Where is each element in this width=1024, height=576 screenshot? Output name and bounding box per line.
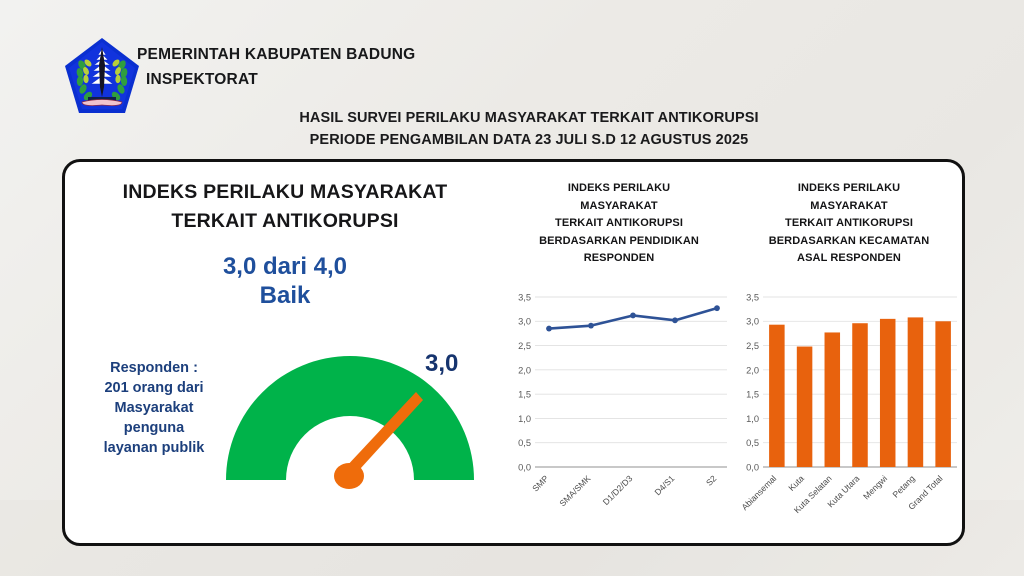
page-title: HASIL SURVEI PERILAKU MASYARAKAT TERKAIT… (0, 107, 1024, 151)
gauge-value-label: 3,0 (425, 350, 458, 378)
bar-chart-bar (880, 319, 896, 467)
bar-chart-xtick: Abiansemal (739, 473, 778, 512)
respondent-line-4: penguna (79, 418, 229, 438)
left-panel-title: INDEKS PERILAKU MASYARAKAT TERKAIT ANTIK… (65, 178, 505, 236)
bar-chart-title-line-3: BERDASARKAN KECAMATAN (733, 233, 965, 251)
line-chart-ytick: 1,0 (518, 414, 531, 424)
line-chart-xtick: SMA/SMK (557, 473, 592, 508)
bar-chart-ytick: 0,0 (746, 462, 759, 472)
respondent-line-2: 201 orang dari (79, 378, 229, 398)
panel-overall-index: INDEKS PERILAKU MASYARAKAT TERKAIT ANTIK… (65, 162, 505, 543)
bar-chart-title-line-2: TERKAIT ANTIKORUPSI (733, 215, 965, 233)
bar-chart-title-line-4: ASAL RESPONDEN (733, 250, 965, 268)
bar-chart-bar (935, 321, 951, 467)
bar-chart-title: INDEKS PERILAKU MASYARAKAT TERKAIT ANTIK… (733, 180, 965, 268)
bar-chart-ytick: 1,0 (746, 414, 759, 424)
bar-chart-ytick: 2,5 (746, 341, 759, 351)
bar-chart-ytick: 1,5 (746, 390, 759, 400)
line-chart-title-line-0: INDEKS PERILAKU (505, 180, 733, 198)
bar-chart-bar (797, 347, 813, 467)
bar-chart-xtick: Petang (891, 473, 917, 499)
bar-chart-ytick: 3,5 (746, 292, 759, 302)
line-chart-title-line-3: BERDASARKAN PENDIDIKAN (505, 233, 733, 251)
line-chart-ytick: 3,5 (518, 292, 531, 302)
line-chart-point (588, 323, 594, 329)
bar-chart-bar (852, 323, 868, 467)
page-title-line1: HASIL SURVEI PERILAKU MASYARAKAT TERKAIT… (34, 107, 1024, 129)
respondent-info: Responden : 201 orang dari Masyarakat pe… (79, 358, 229, 458)
line-chart-ytick: 0,5 (518, 438, 531, 448)
line-chart-point (714, 305, 720, 311)
line-chart-plot: 0,00,51,01,52,02,53,03,5SMPSMA/SMKD1/D2/… (505, 289, 733, 539)
line-chart-xtick: S2 (704, 473, 719, 488)
line-chart-ytick: 0,0 (518, 462, 531, 472)
line-chart-xtick: D1/D2/D3 (601, 473, 635, 507)
line-chart-title-line-1: MASYARAKAT (505, 198, 733, 216)
line-chart-ytick: 3,0 (518, 317, 531, 327)
bar-chart-bar (908, 317, 924, 467)
line-chart-point (672, 317, 678, 323)
line-chart-ytick: 2,5 (518, 341, 531, 351)
bar-chart-ytick: 3,0 (746, 317, 759, 327)
bar-chart-ytick: 0,5 (746, 438, 759, 448)
line-chart-xtick: D4/S1 (652, 473, 676, 497)
line-chart-ytick: 1,5 (518, 390, 531, 400)
line-chart-series (549, 308, 717, 328)
organization-name: PEMERINTAH KABUPATEN BADUNG (137, 46, 415, 64)
line-chart-point (546, 326, 552, 332)
line-chart-title: INDEKS PERILAKU MASYARAKAT TERKAIT ANTIK… (505, 180, 733, 268)
bar-chart-ytick: 2,0 (746, 365, 759, 375)
bar-chart-title-line-1: MASYARAKAT (733, 198, 965, 216)
line-chart-xtick: SMP (530, 473, 550, 493)
bar-chart-bar (825, 332, 841, 467)
respondent-line-1: Responden : (79, 358, 229, 378)
dashboard-card: INDEKS PERILAKU MASYARAKAT TERKAIT ANTIK… (62, 159, 965, 546)
bar-chart-xtick: Mengwi (861, 473, 889, 501)
line-chart-title-line-2: TERKAIT ANTIKORUPSI (505, 215, 733, 233)
page-header: PEMERINTAH KABUPATEN BADUNG INSPEKTORAT … (0, 0, 1024, 160)
line-chart-title-line-4: RESPONDEN (505, 250, 733, 268)
line-chart-ytick: 2,0 (518, 365, 531, 375)
overall-score-text: 3,0 dari 4,0 (65, 250, 505, 283)
page-title-line2: PERIODE PENGAMBILAN DATA 23 JULI S.D 12 … (34, 129, 1024, 151)
left-panel-title-line2: TERKAIT ANTIKORUPSI (65, 207, 505, 236)
panel-index-by-education: INDEKS PERILAKU MASYARAKAT TERKAIT ANTIK… (505, 162, 733, 543)
bar-chart-title-line-0: INDEKS PERILAKU (733, 180, 965, 198)
bar-chart-bar (769, 325, 785, 467)
left-panel-title-line1: INDEKS PERILAKU MASYARAKAT (65, 178, 505, 207)
respondent-line-3: Masyarakat (79, 398, 229, 418)
overall-score-category: Baik (65, 282, 505, 310)
line-chart-point (630, 313, 636, 319)
bar-chart-xtick: Kuta (786, 473, 806, 493)
bar-chart-plot: 0,00,51,01,52,02,53,03,5AbiansemalKutaKu… (733, 289, 965, 539)
respondent-line-5: layanan publik (79, 438, 229, 458)
organization-unit: INSPEKTORAT (146, 71, 258, 89)
panel-index-by-district: INDEKS PERILAKU MASYARAKAT TERKAIT ANTIK… (733, 162, 965, 543)
